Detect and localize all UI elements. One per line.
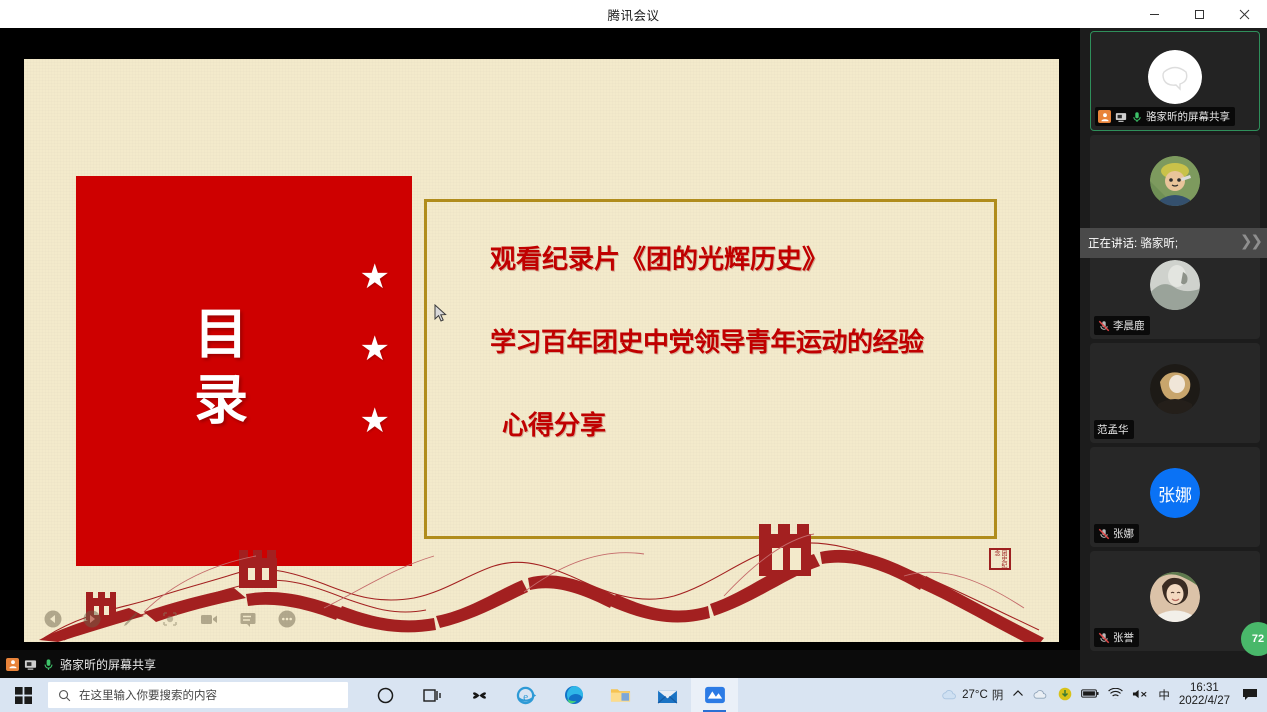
system-tray: 27°C 阴 中 16:31 202 bbox=[941, 682, 1267, 708]
ime-indicator[interactable]: 中 bbox=[1158, 687, 1170, 703]
participant-tile[interactable]: 张娜 张娜 bbox=[1090, 447, 1260, 547]
avatar-initials: 张娜 bbox=[1150, 468, 1200, 518]
search-placeholder: 在这里输入你要搜索的内容 bbox=[79, 687, 217, 703]
task-view-icon[interactable] bbox=[409, 678, 456, 712]
avatar bbox=[1150, 156, 1200, 206]
cloud-icon bbox=[941, 688, 958, 702]
mail-icon[interactable] bbox=[644, 678, 691, 712]
speaking-text: 正在讲话: 骆家昕; bbox=[1088, 235, 1178, 251]
presentation-slide: 目录 ★ ★ ★ 观看纪录片《团的光辉历史》 学习百年团史中党领导青年运动的经验… bbox=[24, 59, 1059, 642]
star-icon: ★ bbox=[360, 404, 390, 438]
clock[interactable]: 16:31 2022/4/27 bbox=[1179, 682, 1230, 708]
participant-label: 李晨鹿 bbox=[1094, 316, 1150, 335]
taskbar-apps: e bbox=[362, 678, 738, 712]
maximize-button[interactable] bbox=[1177, 0, 1222, 28]
seal-text: 团史纪念 bbox=[993, 550, 1007, 568]
pen-icon[interactable] bbox=[120, 608, 142, 630]
participant-label: 范孟华 bbox=[1094, 420, 1134, 439]
volume-muted-icon[interactable] bbox=[1132, 688, 1149, 703]
agenda-item-3: 心得分享 bbox=[468, 405, 1048, 442]
camera-icon[interactable] bbox=[198, 608, 220, 630]
host-badge-icon bbox=[1098, 110, 1111, 123]
mouse-cursor bbox=[434, 304, 448, 324]
cortana-icon[interactable] bbox=[362, 678, 409, 712]
meeting-body: 目录 ★ ★ ★ 观看纪录片《团的光辉历史》 学习百年团史中党领导青年运动的经验… bbox=[0, 28, 1267, 678]
minimize-button[interactable] bbox=[1132, 0, 1177, 28]
toc-label: 目录 bbox=[177, 305, 256, 437]
floating-count-badge[interactable]: 72 bbox=[1241, 622, 1267, 656]
laser-pointer-icon[interactable] bbox=[159, 608, 181, 630]
weather-description: 阴 bbox=[992, 687, 1004, 703]
avatar bbox=[1148, 50, 1202, 104]
show-hidden-icons-chevron-up-icon[interactable] bbox=[1012, 689, 1024, 701]
tencent-meeting-window: 腾讯会议 目录 ★ bbox=[0, 0, 1267, 712]
host-badge-icon bbox=[6, 658, 19, 671]
participant-name: 骆家昕的屏幕共享 bbox=[1146, 109, 1230, 124]
participant-name: 张娜 bbox=[1113, 526, 1134, 541]
onedrive-cloud-icon[interactable] bbox=[1033, 688, 1049, 703]
tencent-meeting-icon[interactable] bbox=[691, 678, 738, 712]
slide-playback-toolbar[interactable] bbox=[42, 608, 298, 630]
chevron-right-icon: ❯❯ bbox=[1240, 232, 1261, 250]
participant-name: 范孟华 bbox=[1097, 422, 1129, 437]
next-slide-icon[interactable] bbox=[81, 608, 103, 630]
participant-label: 骆家昕的屏幕共享 bbox=[1095, 107, 1235, 126]
participant-name: 李晨鹿 bbox=[1113, 318, 1145, 333]
table-of-contents-block: 目录 ★ ★ ★ bbox=[76, 176, 412, 566]
weather-widget[interactable]: 27°C 阴 bbox=[941, 687, 1003, 703]
avatar: 张娜 bbox=[1150, 468, 1200, 518]
microphone-muted-icon bbox=[1097, 631, 1110, 644]
slide-agenda-list: 观看纪录片《团的光辉历史》 学习百年团史中党领导青年运动的经验 心得分享 bbox=[468, 239, 1048, 488]
avatar bbox=[1150, 572, 1200, 622]
participant-name: 张誉 bbox=[1113, 630, 1134, 645]
microsoft-edge-icon[interactable] bbox=[550, 678, 597, 712]
speaking-banner: 正在讲话: 骆家昕; ❯❯ bbox=[1080, 228, 1267, 258]
update-icon[interactable] bbox=[1058, 687, 1072, 704]
star-icon: ★ bbox=[360, 260, 390, 294]
agenda-item-1: 观看纪录片《团的光辉历史》 bbox=[468, 239, 1048, 276]
microphone-muted-icon bbox=[1097, 527, 1110, 540]
participant-tile[interactable] bbox=[1090, 135, 1260, 235]
star-icon: ★ bbox=[360, 332, 390, 366]
avatar bbox=[1150, 364, 1200, 414]
start-button[interactable] bbox=[0, 678, 46, 712]
search-input[interactable]: 在这里输入你要搜索的内容 bbox=[48, 682, 348, 708]
avatar bbox=[1150, 260, 1200, 310]
window-controls bbox=[1132, 0, 1267, 28]
weather-temperature: 27°C bbox=[962, 689, 988, 701]
more-options-icon[interactable] bbox=[276, 608, 298, 630]
clock-time: 16:31 bbox=[1179, 682, 1230, 695]
agenda-item-2: 学习百年团史中党领导青年运动的经验 bbox=[468, 322, 1048, 359]
network-wifi-icon[interactable] bbox=[1108, 688, 1123, 703]
title-bar: 腾讯会议 bbox=[0, 0, 1267, 28]
screen-share-icon bbox=[1114, 110, 1127, 123]
share-status-bar: 骆家昕的屏幕共享 bbox=[0, 650, 1080, 678]
seal-stamp: 团史纪念 bbox=[989, 548, 1011, 570]
app-flower-icon[interactable] bbox=[456, 678, 503, 712]
presenter-view-icon[interactable] bbox=[237, 608, 259, 630]
star-decorations: ★ ★ ★ bbox=[360, 260, 390, 438]
shared-screen-region[interactable]: 目录 ★ ★ ★ 观看纪录片《团的光辉历史》 学习百年团史中党领导青年运动的经验… bbox=[0, 28, 1080, 650]
previous-slide-icon[interactable] bbox=[42, 608, 64, 630]
svg-text:e: e bbox=[523, 691, 528, 703]
file-explorer-icon[interactable] bbox=[597, 678, 644, 712]
clock-date: 2022/4/27 bbox=[1179, 695, 1230, 708]
microphone-icon bbox=[1130, 110, 1143, 123]
window-title: 腾讯会议 bbox=[607, 5, 659, 24]
participant-tile[interactable]: 张誉 bbox=[1090, 551, 1260, 651]
participant-label: 张娜 bbox=[1094, 524, 1139, 543]
participants-rail[interactable]: 骆家昕的屏幕共享 bbox=[1080, 28, 1267, 678]
participant-label: 张誉 bbox=[1094, 628, 1139, 647]
screen-share-icon bbox=[24, 658, 37, 671]
participant-tile[interactable]: 骆家昕的屏幕共享 bbox=[1090, 31, 1260, 131]
microphone-muted-icon bbox=[1097, 319, 1110, 332]
microphone-icon bbox=[42, 658, 55, 671]
search-icon bbox=[58, 689, 71, 702]
battery-icon[interactable] bbox=[1081, 688, 1099, 702]
participant-tile[interactable]: 范孟华 bbox=[1090, 343, 1260, 443]
notification-center-icon[interactable] bbox=[1239, 682, 1261, 708]
share-status-text: 骆家昕的屏幕共享 bbox=[60, 656, 156, 673]
windows-taskbar: 在这里输入你要搜索的内容 e bbox=[0, 678, 1267, 712]
internet-explorer-icon[interactable]: e bbox=[503, 678, 550, 712]
close-button[interactable] bbox=[1222, 0, 1267, 28]
